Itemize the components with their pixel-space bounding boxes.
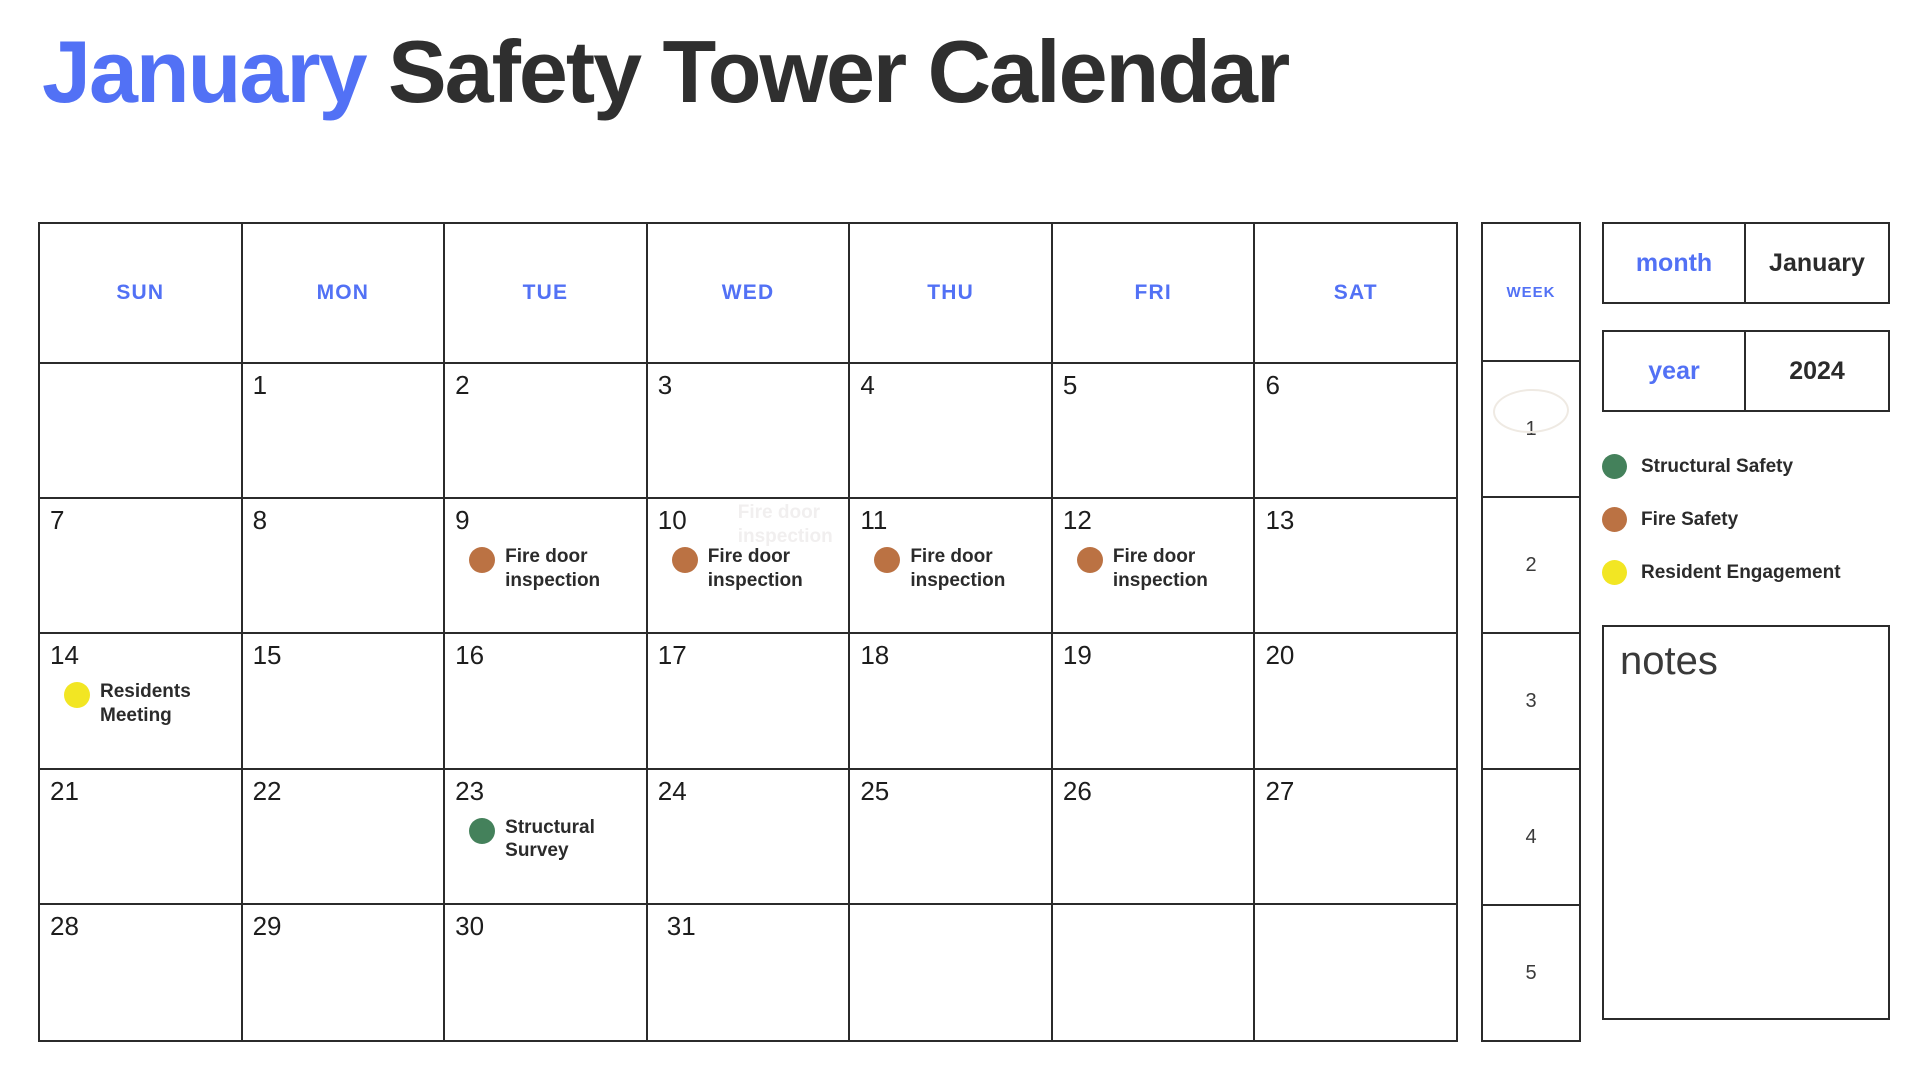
calendar-event[interactable]: Fire door inspection [860, 545, 1041, 593]
day-number: 20 [1265, 642, 1446, 668]
calendar-day-cell[interactable]: 7 [40, 499, 243, 634]
day-number: 31 [658, 913, 839, 939]
legend-item-resident[interactable]: Resident Engagement [1602, 546, 1890, 599]
legend-label: Structural Safety [1641, 456, 1793, 478]
day-number: 13 [1265, 507, 1446, 533]
calendar-day-cell[interactable]: 25 [850, 770, 1053, 905]
calendar-event[interactable]: Fire door inspection [658, 545, 839, 593]
week-number-column: WEEK 12345 [1481, 222, 1581, 1042]
calendar-day-cell[interactable]: 29 [243, 905, 446, 1040]
year-field[interactable]: year 2024 [1602, 330, 1890, 412]
event-category-dot-fire [672, 547, 698, 573]
day-of-week-header-wed: WED [648, 224, 851, 364]
calendar-day-cell[interactable]: 20 [1255, 634, 1458, 769]
calendar-day-cell[interactable]: 14Residents Meeting [40, 634, 243, 769]
legend-item-fire[interactable]: Fire Safety [1602, 493, 1890, 546]
page-title: January Safety Tower Calendar [42, 28, 1288, 116]
week-number-label: 1 [1525, 418, 1536, 441]
day-of-week-header-sun: SUN [40, 224, 243, 364]
month-field[interactable]: month January [1602, 222, 1890, 304]
page-title-month: January [42, 22, 366, 121]
week-number-cell[interactable]: 2 [1481, 498, 1581, 634]
day-number: 26 [1063, 778, 1244, 804]
calendar-day-cell[interactable]: 5 [1053, 364, 1256, 499]
calendar-day-cell[interactable]: 9Fire door inspection [445, 499, 648, 634]
calendar-day-cell[interactable]: 23Structural Survey [445, 770, 648, 905]
calendar-day-cell[interactable]: 3 [648, 364, 851, 499]
calendar-empty-cell [40, 364, 243, 499]
day-number: 22 [253, 778, 434, 804]
calendar-day-cell[interactable]: 11Fire door inspection [850, 499, 1053, 634]
calendar-day-cell[interactable]: 21 [40, 770, 243, 905]
day-number: 6 [1265, 372, 1446, 398]
calendar-day-cell[interactable]: 18 [850, 634, 1053, 769]
event-label: Residents Meeting [100, 680, 212, 728]
day-number: 28 [50, 913, 231, 939]
day-number: 9 [455, 507, 636, 533]
day-number: 15 [253, 642, 434, 668]
calendar-day-cell[interactable]: 12Fire door inspection [1053, 499, 1256, 634]
day-number: 10 [658, 507, 839, 533]
calendar-empty-cell [850, 905, 1053, 1040]
day-number: 17 [658, 642, 839, 668]
calendar-event[interactable]: Fire door inspection [1063, 545, 1244, 593]
day-number: 19 [1063, 642, 1244, 668]
day-of-week-header-sat: SAT [1255, 224, 1458, 364]
day-number: 21 [50, 778, 231, 804]
day-of-week-header-fri: FRI [1053, 224, 1256, 364]
day-number: 1 [253, 372, 434, 398]
calendar-week-row: 14Residents Meeting151617181920 [40, 634, 1458, 769]
calendar-day-cell[interactable]: 19 [1053, 634, 1256, 769]
day-number: 3 [658, 372, 839, 398]
event-category-dot-fire [1077, 547, 1103, 573]
calendar-day-cell[interactable]: 1 [243, 364, 446, 499]
week-number-cell[interactable]: 5 [1481, 906, 1581, 1042]
calendar-day-cell[interactable]: 16 [445, 634, 648, 769]
calendar-event[interactable]: Residents Meeting [50, 680, 231, 728]
calendar-day-cell[interactable]: 26 [1053, 770, 1256, 905]
calendar-week-row: 28293031 [40, 905, 1458, 1040]
calendar-grid: SUNMONTUEWEDTHUFRISAT 123456789Fire door… [38, 222, 1458, 1042]
day-number: 29 [253, 913, 434, 939]
day-number: 5 [1063, 372, 1244, 398]
calendar-day-cell[interactable]: 28 [40, 905, 243, 1040]
day-of-week-header-thu: THU [850, 224, 1053, 364]
calendar-empty-cell [1255, 905, 1458, 1040]
day-number: 14 [50, 642, 231, 668]
day-of-week-header-tue: TUE [445, 224, 648, 364]
event-category-dot-fire [874, 547, 900, 573]
event-label: Structural Survey [505, 816, 617, 864]
event-label: Fire door inspection [505, 545, 617, 593]
day-number: 8 [253, 507, 434, 533]
notes-box[interactable]: notes [1602, 625, 1890, 1020]
calendar-day-cell[interactable]: 22 [243, 770, 446, 905]
event-label: Fire door inspection [708, 545, 820, 593]
page-title-rest: Safety Tower Calendar [366, 22, 1289, 121]
notes-title: notes [1620, 641, 1872, 681]
calendar-week-row: 123456 [40, 364, 1458, 499]
event-label: Fire door inspection [910, 545, 1022, 593]
week-number-label: 4 [1525, 826, 1536, 849]
day-number: 27 [1265, 778, 1446, 804]
day-number: 23 [455, 778, 636, 804]
calendar-day-cell[interactable]: 8 [243, 499, 446, 634]
calendar-day-cell[interactable]: 30 [445, 905, 648, 1040]
calendar-day-cell[interactable]: 15 [243, 634, 446, 769]
day-number: 4 [860, 372, 1041, 398]
event-label: Fire door inspection [1113, 545, 1225, 593]
calendar-day-cell[interactable]: 27 [1255, 770, 1458, 905]
calendar-day-cell[interactable]: 13 [1255, 499, 1458, 634]
week-number-label: 5 [1525, 962, 1536, 985]
day-number: 30 [455, 913, 636, 939]
day-number: 25 [860, 778, 1041, 804]
side-panel: month January year 2024 Structural Safet… [1602, 222, 1890, 1020]
day-number: 16 [455, 642, 636, 668]
day-number: 12 [1063, 507, 1244, 533]
day-number: 7 [50, 507, 231, 533]
calendar-day-cell[interactable]: 24 [648, 770, 851, 905]
calendar-event[interactable]: Structural Survey [455, 816, 636, 864]
legend-dot-fire [1602, 507, 1627, 532]
calendar-day-cell[interactable]: 17 [648, 634, 851, 769]
week-number-label: 3 [1525, 690, 1536, 713]
week-number-label: 2 [1525, 554, 1536, 577]
calendar-day-cell[interactable]: 6 [1255, 364, 1458, 499]
calendar-day-cell[interactable]: 31 [648, 905, 851, 1040]
calendar-day-cell[interactable]: 4 [850, 364, 1053, 499]
year-field-label: year [1604, 332, 1746, 410]
day-number: 2 [455, 372, 636, 398]
calendar-day-cell[interactable]: 2 [445, 364, 648, 499]
calendar-header-row: SUNMONTUEWEDTHUFRISAT [40, 224, 1458, 364]
event-category-dot-fire [469, 547, 495, 573]
day-number: 18 [860, 642, 1041, 668]
calendar-week-row: 212223Structural Survey24252627 [40, 770, 1458, 905]
calendar-day-cell[interactable]: 10Fire door inspectionFire door inspecti… [648, 499, 851, 634]
calendar-empty-cell [1053, 905, 1256, 1040]
month-field-value[interactable]: January [1746, 224, 1888, 302]
month-field-label: month [1604, 224, 1746, 302]
week-number-cell[interactable]: 4 [1481, 770, 1581, 906]
event-category-dot-structural [469, 818, 495, 844]
category-legend: Structural SafetyFire SafetyResident Eng… [1602, 440, 1890, 599]
day-number: 11 [860, 507, 1041, 533]
legend-dot-resident [1602, 560, 1627, 585]
legend-dot-structural [1602, 454, 1627, 479]
day-number: 24 [658, 778, 839, 804]
calendar-week-row: 789Fire door inspection10Fire door inspe… [40, 499, 1458, 634]
year-field-value[interactable]: 2024 [1746, 332, 1888, 410]
week-column-header: WEEK [1481, 222, 1581, 362]
week-number-cell[interactable]: 1 [1481, 362, 1581, 498]
week-number-cell[interactable]: 3 [1481, 634, 1581, 770]
event-category-dot-resident [64, 682, 90, 708]
legend-label: Fire Safety [1641, 509, 1738, 531]
calendar-event[interactable]: Fire door inspection [455, 545, 636, 593]
legend-item-structural[interactable]: Structural Safety [1602, 440, 1890, 493]
day-of-week-header-mon: MON [243, 224, 446, 364]
calendar-page: January Safety Tower Calendar SUNMONTUEW… [0, 0, 1920, 1080]
legend-label: Resident Engagement [1641, 562, 1841, 584]
